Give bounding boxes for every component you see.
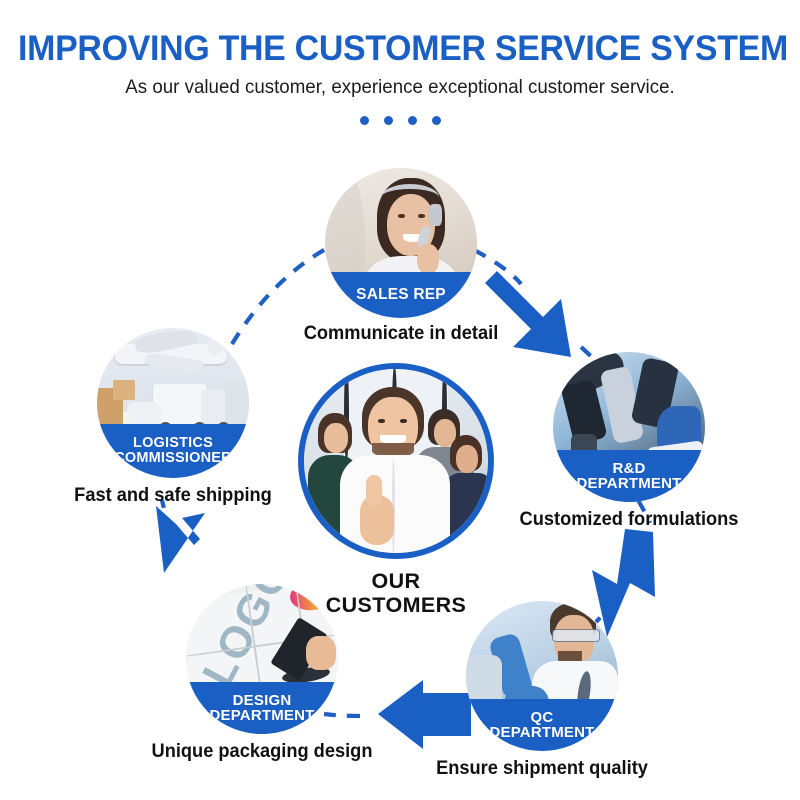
node-label-line1: QC (531, 710, 554, 725)
node-logistics-commissioner[interactable]: LOGISTICS COMMISSIONER Fast and safe shi… (97, 328, 249, 478)
node-caption-design-department: Unique packaging design (149, 741, 376, 763)
node-caption-rd-department: Customized formulations (516, 509, 743, 531)
node-label-line1: LOGISTICS (133, 436, 213, 451)
node-caption-logistics-commissioner: Fast and safe shipping (69, 485, 276, 507)
node-label-line1: R&D (612, 461, 645, 476)
node-caption-qc-department: Ensure shipment quality (431, 758, 654, 780)
node-circle: LOGISTICS COMMISSIONER (97, 328, 249, 478)
arrow-design-to-logistics (156, 506, 205, 573)
node-band: R&D DEPARTMENT (553, 450, 705, 502)
dashed-link-sales-to-rd (474, 250, 521, 284)
node-label-line1: SALES REP (356, 287, 446, 303)
node-band: SALES REP (325, 272, 477, 318)
node-label-line2: DEPARTMENT (576, 476, 681, 491)
node-band: QC DEPARTMENT (466, 699, 618, 751)
cycle-diagram: SALES REP Communicate in detail (0, 0, 800, 800)
node-label-line1: DESIGN (233, 693, 292, 708)
dashed-link-qc-to-design (424, 708, 465, 714)
node-label-line2: DEPARTMENT (209, 708, 314, 723)
node-qc-department[interactable]: QC DEPARTMENT Ensure shipment quality (466, 601, 618, 751)
node-circle: QC DEPARTMENT (466, 601, 618, 751)
our-customers-photo (304, 369, 488, 553)
center-circle (298, 363, 494, 559)
node-circle: SALES REP (325, 168, 477, 318)
arrow-qc-to-design (378, 680, 471, 749)
node-band: DESIGN DEPARTMENT (186, 682, 338, 734)
node-sales-rep[interactable]: SALES REP Communicate in detail (325, 168, 477, 318)
infographic-page: IMPROVING THE CUSTOMER SERVICE SYSTEM As… (0, 0, 800, 800)
node-caption-sales-rep: Communicate in detail (292, 323, 511, 345)
node-circle: R&D DEPARTMENT (553, 352, 705, 502)
node-band: LOGISTICS COMMISSIONER (97, 424, 249, 478)
node-rd-department[interactable]: R&D DEPARTMENT Customized formulations (553, 352, 705, 502)
node-label-line2: COMMISSIONER (114, 451, 232, 466)
center-label-line2: CUSTOMERS (268, 593, 524, 617)
center-label-line1: OUR (268, 569, 524, 593)
node-label-line2: DEPARTMENT (489, 725, 594, 740)
center-caption: OUR CUSTOMERS (268, 569, 524, 617)
